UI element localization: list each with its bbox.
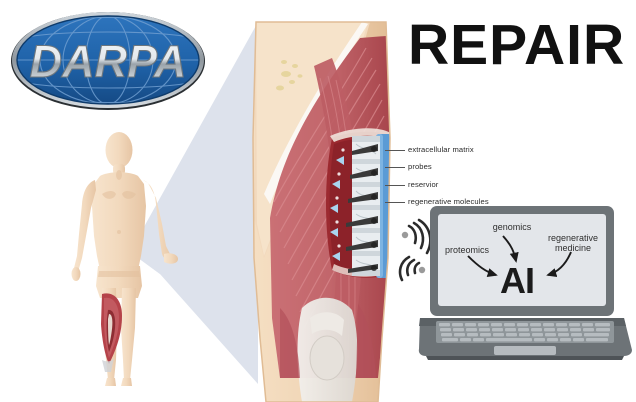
body-arm-right: [143, 180, 174, 261]
darpa-logo: DARPA: [8, 8, 208, 112]
signal-right-dot: [402, 232, 408, 238]
body-head: [106, 132, 133, 168]
screen-label-regenerative-medicine-line2: medicine: [542, 243, 604, 253]
body-leg-right: [121, 288, 136, 380]
leader-line-extracellular-matrix: [385, 150, 405, 151]
illustration-canvas: DARPA REPAIR: [0, 0, 636, 402]
callout-extracellular-matrix: extracellular matrix: [408, 145, 474, 154]
page-title: REPAIR: [408, 14, 636, 76]
arrow-genomics: [503, 236, 516, 261]
leader-line-probes: [385, 167, 405, 168]
laptop-screen-content: genomics proteomics regenerative medicin…: [438, 214, 606, 306]
arrow-proteomics: [468, 256, 496, 275]
arrow-regenerative-medicine: [548, 252, 571, 275]
callout-probes: probes: [408, 162, 432, 171]
screen-label-regenerative-medicine-line1: regenerative: [542, 233, 604, 243]
screen-label-ai: AI: [500, 260, 534, 302]
extracellular-matrix-blocks: [352, 136, 380, 276]
callout-reservior: reservior: [408, 180, 438, 189]
body-torso: [92, 172, 146, 274]
leader-line-reservior: [385, 185, 405, 186]
thigh-detail-illustration: [240, 18, 402, 402]
body-arm-left: [74, 180, 96, 274]
screen-label-genomics: genomics: [482, 222, 542, 232]
patella: [310, 336, 344, 380]
screen-label-proteomics: proteomics: [436, 245, 498, 255]
leader-line-regenerative-molecules: [385, 202, 405, 203]
laptop-illustration: genomics proteomics regenerative medicin…: [416, 204, 634, 368]
human-body-figure: [58, 128, 180, 390]
laptop-trackpad: [494, 346, 556, 355]
logo-text: DARPA: [30, 36, 187, 87]
